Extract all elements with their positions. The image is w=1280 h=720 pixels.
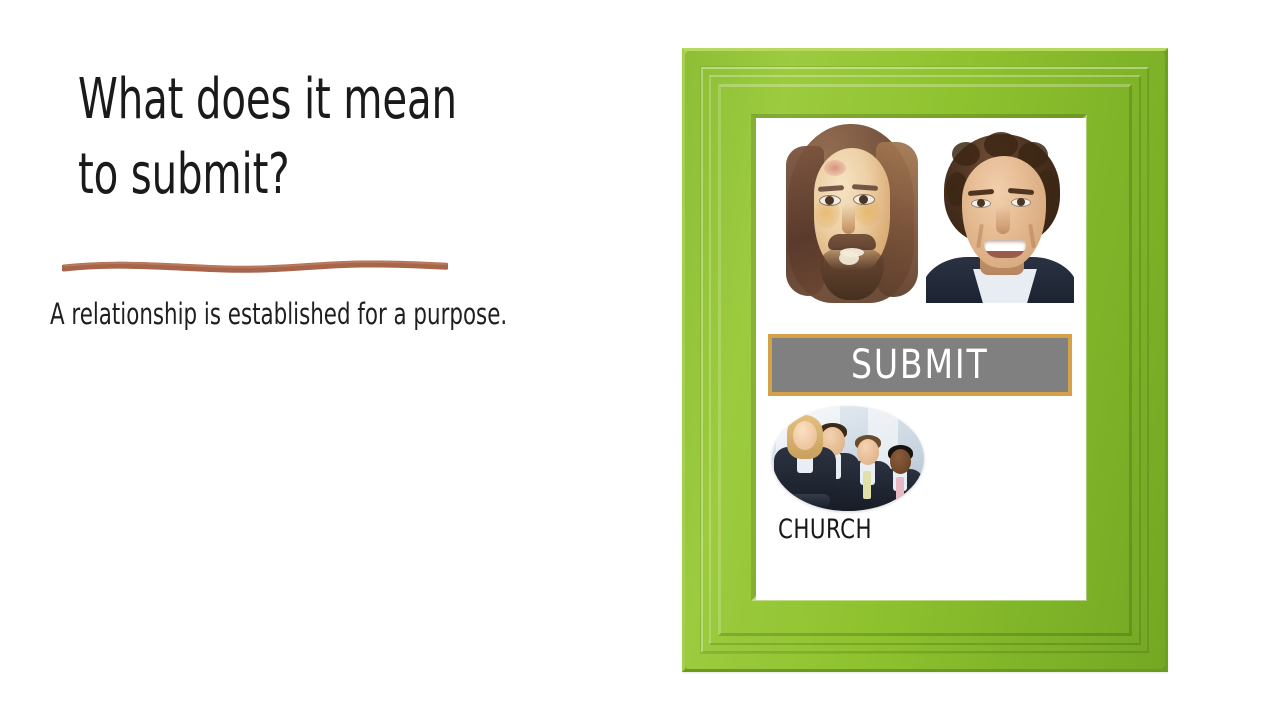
submit-banner-label: SUBMIT <box>851 345 989 385</box>
slide-text-column: What does it mean to submit? A relations… <box>0 0 660 720</box>
green-picture-frame: SUBMIT <box>680 46 1172 674</box>
person-3-tie <box>863 471 871 499</box>
person-1-head <box>793 421 817 450</box>
frame-mat-area: SUBMIT <box>756 118 1086 600</box>
man-smile <box>984 240 1026 258</box>
jesus-nose <box>842 204 855 234</box>
person-4-tie <box>896 477 904 503</box>
person-1-crossed-arms <box>780 494 830 507</box>
brush-stroke-divider <box>62 252 448 282</box>
man-hair-curl <box>984 132 1018 158</box>
man-photo-portrait <box>926 120 1074 303</box>
person-3-head <box>857 439 879 465</box>
person-4-head <box>890 449 911 474</box>
group-person-1 <box>774 415 836 511</box>
subtitle-text: A relationship is established for a purp… <box>50 297 542 332</box>
jesus-forehead-blush <box>824 160 846 176</box>
man-pupil-right <box>1017 198 1025 206</box>
page-title: What does it mean to submit? <box>78 62 526 212</box>
jesus-watercolor-portrait <box>776 120 926 303</box>
man-pupil-left <box>977 199 985 207</box>
submit-banner[interactable]: SUBMIT <box>768 334 1072 396</box>
man-hair-curl <box>952 142 980 166</box>
church-label: CHURCH <box>778 516 872 543</box>
church-block: CHURCH <box>772 406 930 566</box>
jesus-pupil-right <box>859 195 868 204</box>
man-nose <box>996 206 1010 234</box>
business-group-oval-photo <box>772 406 924 511</box>
jesus-mouth <box>840 248 864 257</box>
portraits-row <box>776 120 1074 303</box>
jesus-pupil-left <box>825 196 834 205</box>
brush-stroke-icon <box>62 252 448 282</box>
